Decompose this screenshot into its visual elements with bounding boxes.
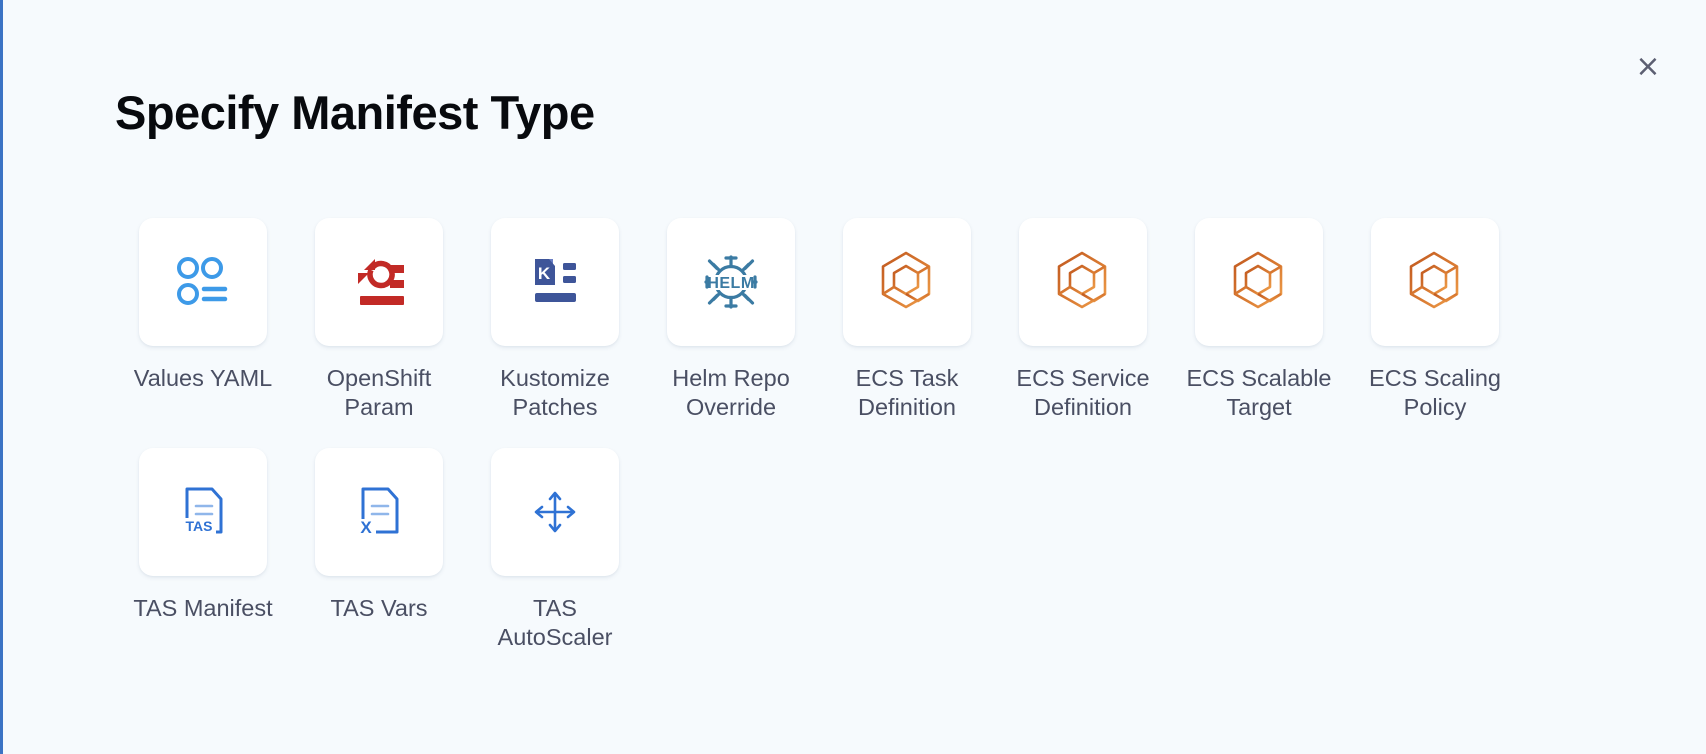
manifest-type-tile-openshift-param[interactable]: OpenShift Param	[291, 218, 467, 421]
manifest-type-tile-helm-repo-override[interactable]: HELM Helm Repo Override	[643, 218, 819, 421]
tas-manifest-icon[interactable]: TAS	[139, 448, 267, 576]
svg-text:TAS: TAS	[186, 518, 213, 534]
manifest-type-label: ECS Scalable Target	[1184, 364, 1334, 421]
svg-text:K: K	[538, 264, 551, 283]
tas-autoscaler-icon[interactable]	[491, 448, 619, 576]
manifest-type-label: Helm Repo Override	[656, 364, 806, 421]
ecs-icon[interactable]	[843, 218, 971, 346]
manifest-type-label: TAS Manifest	[128, 594, 278, 623]
manifest-type-label: Kustomize Patches	[480, 364, 630, 421]
manifest-type-tile-kustomize-patches[interactable]: K Kustomize Patches	[467, 218, 643, 421]
manifest-type-grid: Values YAML OpenShift Param K Kustomize …	[115, 218, 1615, 679]
manifest-type-label: ECS Task Definition	[832, 364, 982, 421]
helm-repo-override-icon[interactable]: HELM	[667, 218, 795, 346]
manifest-type-label: ECS Service Definition	[1008, 364, 1158, 421]
manifest-type-tile-ecs-scalable-target[interactable]: ECS Scalable Target	[1171, 218, 1347, 421]
specify-manifest-type-dialog: × Specify Manifest Type Values YAML Open…	[3, 0, 1706, 754]
openshift-param-icon[interactable]	[315, 218, 443, 346]
svg-text:HELM: HELM	[707, 275, 754, 292]
ecs-icon[interactable]	[1371, 218, 1499, 346]
manifest-type-tile-tas-manifest[interactable]: TAS TAS Manifest	[115, 448, 291, 651]
manifest-type-tile-tas-autoscaler[interactable]: TAS AutoScaler	[467, 448, 643, 651]
manifest-type-tile-ecs-service-definition[interactable]: ECS Service Definition	[995, 218, 1171, 421]
manifest-type-tile-values-yaml[interactable]: Values YAML	[115, 218, 291, 421]
manifest-type-label: TAS Vars	[304, 594, 454, 623]
manifest-type-tile-ecs-scaling-policy[interactable]: ECS Scaling Policy	[1347, 218, 1523, 421]
kustomize-patches-icon[interactable]: K	[491, 218, 619, 346]
ecs-icon[interactable]	[1195, 218, 1323, 346]
close-icon[interactable]: ×	[1627, 46, 1669, 88]
manifest-type-label: Values YAML	[128, 364, 278, 393]
manifest-type-label: OpenShift Param	[304, 364, 454, 421]
manifest-type-label: ECS Scaling Policy	[1360, 364, 1510, 421]
values-yaml-icon[interactable]	[139, 218, 267, 346]
manifest-type-tile-ecs-task-definition[interactable]: ECS Task Definition	[819, 218, 995, 421]
ecs-icon[interactable]	[1019, 218, 1147, 346]
manifest-type-label: TAS AutoScaler	[480, 594, 630, 651]
page-title: Specify Manifest Type	[115, 86, 595, 140]
manifest-type-tile-tas-vars[interactable]: X TAS Vars	[291, 448, 467, 651]
svg-text:X: X	[360, 518, 372, 537]
tas-vars-icon[interactable]: X	[315, 448, 443, 576]
